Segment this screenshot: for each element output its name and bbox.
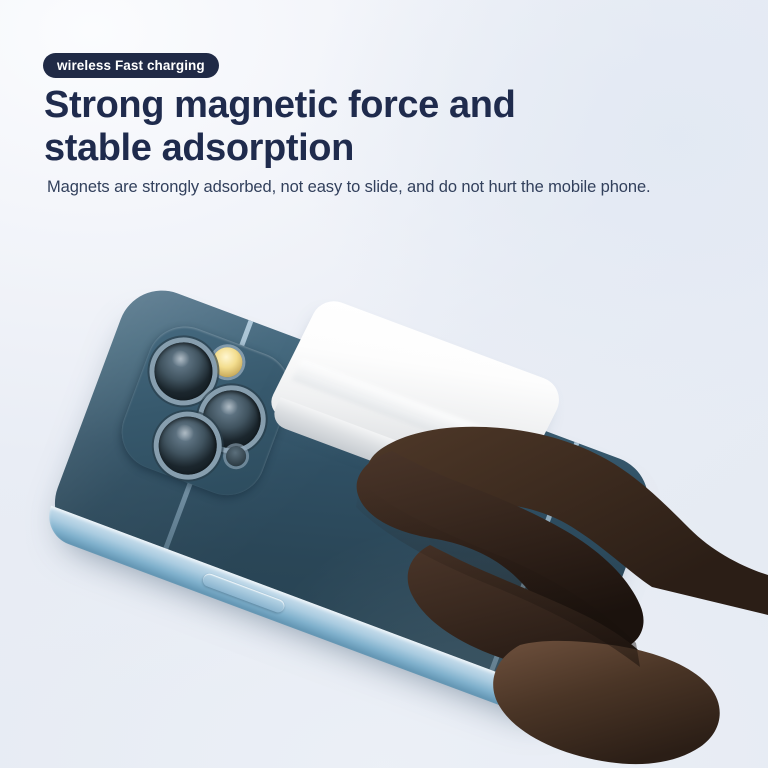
- page-title: Strong magnetic force and stable adsorpt…: [44, 84, 604, 171]
- page-title-line-1: Strong magnetic force and: [44, 84, 515, 126]
- photo-description: A hand holding a white magnetic wireless…: [0, 0, 1, 1]
- page-subtitle: Magnets are strongly adsorbed, not easy …: [47, 178, 707, 197]
- product-photo: [0, 215, 768, 768]
- camera-flash-icon: [208, 343, 247, 382]
- promo-banner: wireless Fast charging Strong magnetic f…: [0, 0, 768, 768]
- camera-lens: [146, 334, 221, 409]
- page-title-line-2: stable adsorption: [44, 127, 604, 170]
- wireless-fast-charging-badge: wireless Fast charging: [43, 53, 219, 78]
